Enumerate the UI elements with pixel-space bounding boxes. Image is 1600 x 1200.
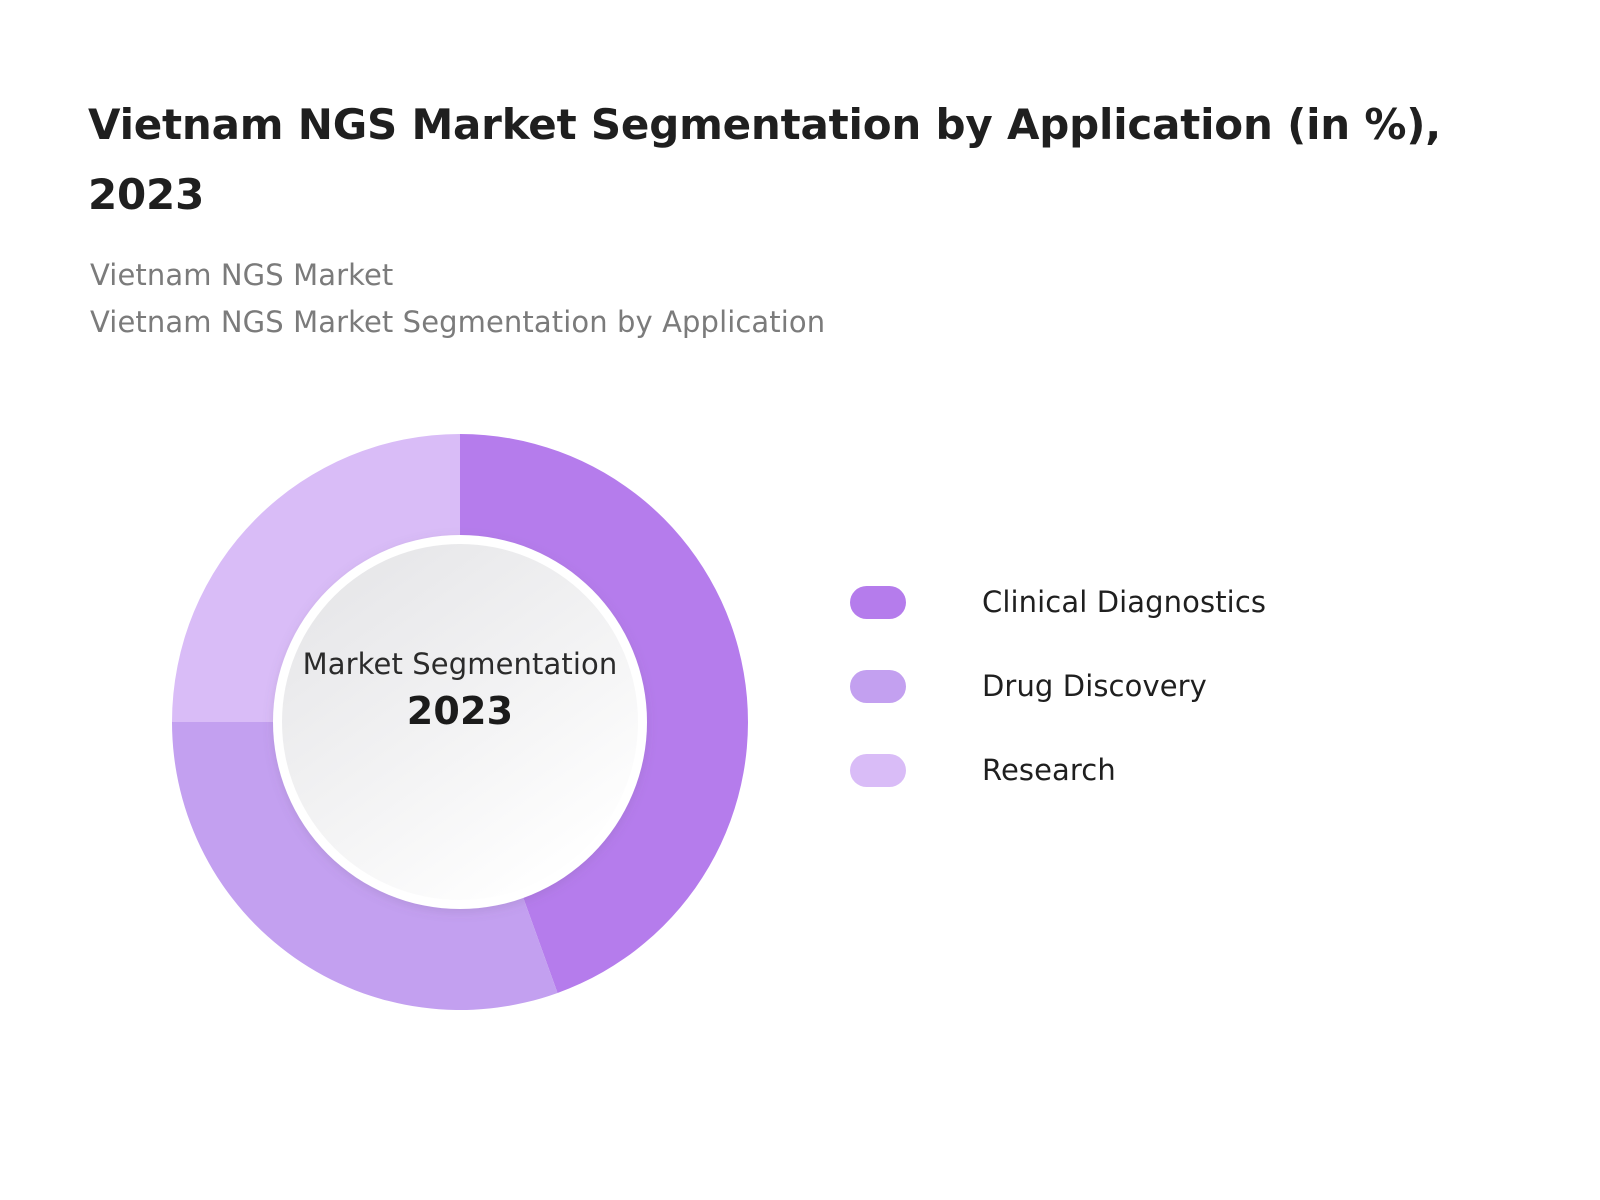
legend-item-1[interactable]: Clinical Diagnostics	[830, 560, 1470, 644]
subtitle-line-1: Vietnam NGS Market	[90, 252, 1290, 299]
donut-hub	[282, 544, 638, 900]
subtitle-block: Vietnam NGS Market Vietnam NGS Market Se…	[90, 252, 1290, 346]
donut-svg	[172, 434, 748, 1010]
legend-item-2[interactable]: Drug Discovery	[830, 644, 1470, 728]
chart-page: Vietnam NGS Market Segmentation by Appli…	[0, 0, 1600, 1200]
legend-swatch-icon	[850, 754, 906, 787]
chart-legend: Clinical DiagnosticsDrug DiscoveryResear…	[830, 560, 1470, 812]
legend-swatch-icon	[850, 670, 906, 703]
legend-label: Research	[982, 753, 1116, 787]
legend-label: Drug Discovery	[982, 669, 1207, 703]
donut-chart: Market Segmentation 2023	[172, 434, 748, 1010]
legend-label: Clinical Diagnostics	[982, 585, 1266, 619]
page-title: Vietnam NGS Market Segmentation by Appli…	[88, 90, 1488, 230]
legend-item-3[interactable]: Research	[830, 728, 1470, 812]
legend-swatch-icon	[850, 586, 906, 619]
subtitle-line-2: Vietnam NGS Market Segmentation by Appli…	[90, 299, 1290, 346]
